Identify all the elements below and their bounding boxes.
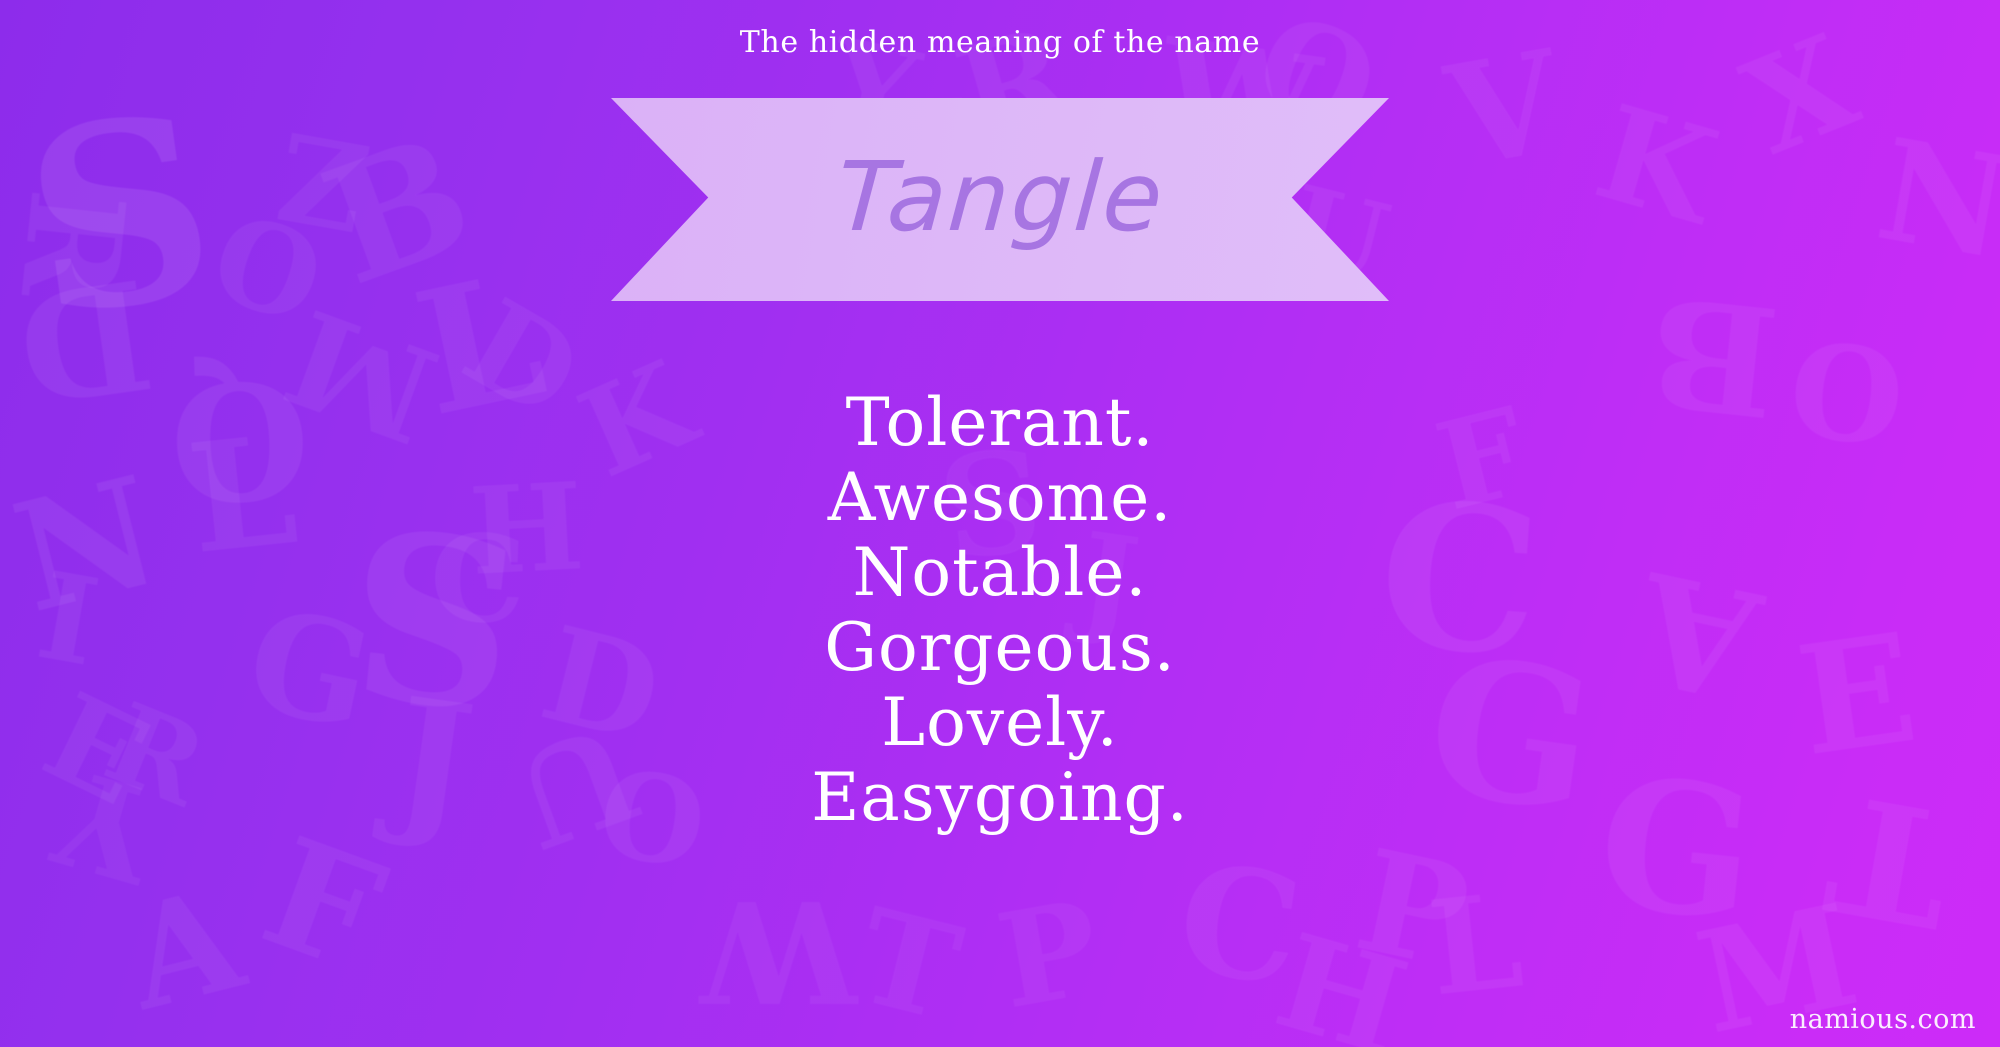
background-letter: Z [270, 113, 377, 246]
background-letter: S [13, 79, 227, 352]
background-letter: P [989, 882, 1108, 1027]
background-letter: P [1347, 831, 1479, 990]
meaning-line: Lovely. [0, 685, 2000, 760]
background-letter: N [1869, 120, 2000, 280]
meaning-line: Awesome. [0, 460, 2000, 535]
meaning-line: Gorgeous. [0, 610, 2000, 685]
background-letter: F [248, 816, 399, 993]
meaning-list: Tolerant.Awesome.Notable.Gorgeous.Lovely… [0, 385, 2000, 835]
page-title: The hidden meaning of the name [0, 25, 2000, 60]
meaning-line: Easygoing. [0, 760, 2000, 835]
name-meaning-card: SRDNIERQOLGMBSJLDHCUODKZYZRWQVKXNBOCFGAE… [0, 0, 2000, 1047]
background-letter: B [307, 112, 489, 309]
background-letter: O [199, 197, 335, 343]
background-letter: R [2, 184, 143, 305]
meaning-line: Tolerant. [0, 385, 2000, 460]
background-letter: H [1264, 916, 1418, 1047]
background-letter: C [1170, 842, 1309, 1007]
background-letter: T [846, 890, 971, 1040]
name-ribbon-banner: Tangle [611, 98, 1389, 301]
background-letter: L [1423, 876, 1527, 1015]
name-text: Tangle [833, 149, 1167, 251]
background-letter: K [1584, 87, 1728, 243]
meaning-line: Notable. [0, 535, 2000, 610]
background-letter: A [115, 869, 254, 1031]
background-letter: W [700, 880, 857, 1020]
site-watermark: namious.com [1790, 1004, 1976, 1035]
